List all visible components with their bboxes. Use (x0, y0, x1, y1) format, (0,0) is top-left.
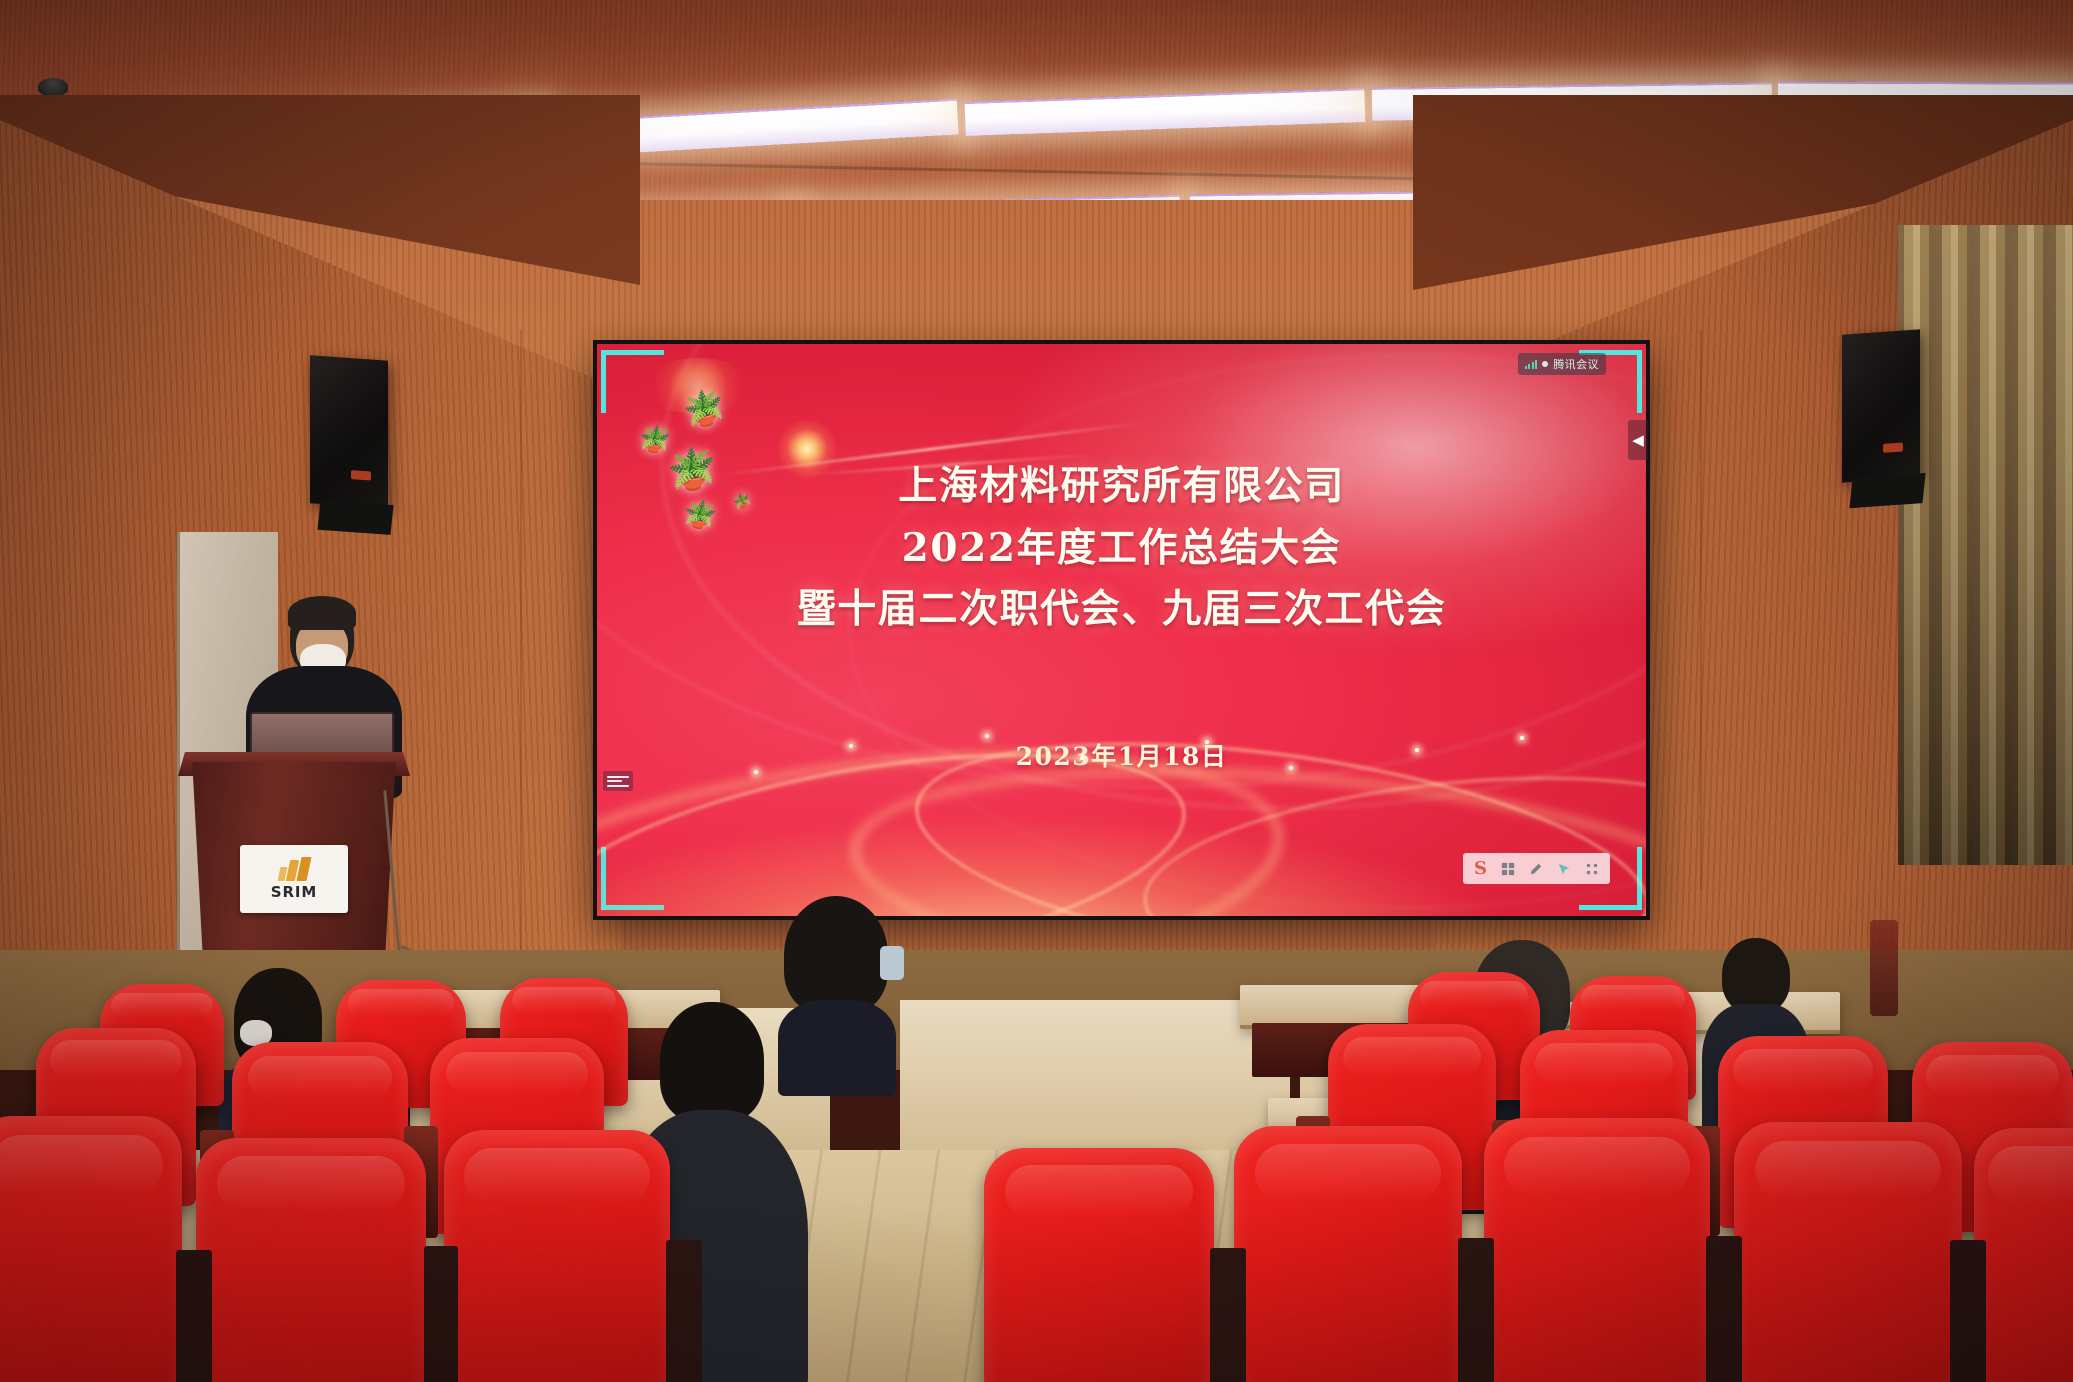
srim-logo-plate: SRIM (240, 845, 348, 913)
speaker-mount (318, 500, 394, 535)
dove-icon: 🪴 (680, 389, 728, 430)
status-dot-icon (1542, 361, 1548, 367)
speaker-mount (1850, 473, 1926, 508)
wall-panel-seam (520, 330, 522, 950)
speaker-badge (1883, 443, 1903, 453)
seat-armrest (1870, 920, 1898, 1016)
auditorium-seat[interactable] (1234, 1126, 1462, 1382)
person-hair (660, 1002, 764, 1122)
auditorium-seat[interactable] (1974, 1128, 2073, 1382)
ceiling-camera-icon (38, 78, 68, 96)
slide-toolbar[interactable]: S (1463, 853, 1610, 884)
seat-frame (1950, 1240, 1986, 1382)
tencent-meeting-watermark: 腾讯会议 (1518, 353, 1606, 375)
presenter-hair (288, 596, 356, 630)
auditorium-photo: 🪴 🪴 🪴 🪴 🪴 腾讯会议 上海材料研究所有限公司 2022年度工作总结大会 (0, 0, 2073, 1382)
chevron-left-icon[interactable]: ◀ (1628, 420, 1648, 460)
pointer-icon[interactable] (1557, 862, 1571, 876)
signal-bars-icon (1525, 360, 1538, 369)
watermark-label: 腾讯会议 (1553, 356, 1599, 372)
s-logo-icon: S (1474, 858, 1487, 879)
window-curtain (1898, 225, 2073, 865)
srim-logo-text: SRIM (271, 883, 317, 901)
seat-frame (1706, 1236, 1742, 1382)
led-screen-frame: 🪴 🪴 🪴 🪴 🪴 腾讯会议 上海材料研究所有限公司 2022年度工作总结大会 (593, 340, 1650, 920)
slide-line-1: 上海材料研究所有限公司 (597, 456, 1646, 518)
person-hair (784, 896, 888, 1014)
curtain-shading (1898, 225, 2073, 865)
slide-title-block: 上海材料研究所有限公司 2022年度工作总结大会 暨十届二次职代会、九届三次工代… (597, 456, 1646, 641)
speaker-badge (351, 470, 371, 480)
slide-line-2: 2022年度工作总结大会 (597, 518, 1646, 580)
wall-speaker-right (1842, 329, 1920, 482)
slide-line-3: 暨十届二次职代会、九届三次工代会 (597, 579, 1646, 641)
auditorium-seat[interactable] (1734, 1122, 1962, 1382)
grid-icon[interactable] (1501, 862, 1515, 876)
wall-panel-seam (1700, 330, 1702, 890)
auditorium-seat[interactable] (444, 1130, 670, 1382)
person-hair (1722, 938, 1790, 1014)
seat-frame (1458, 1238, 1494, 1382)
srim-chevron-mark-icon (279, 857, 309, 881)
seat-frame (176, 1250, 212, 1382)
wall-speaker-left (310, 355, 388, 508)
corner-bracket-top-left (601, 350, 664, 413)
auditorium-seat[interactable] (1484, 1118, 1710, 1382)
auditorium-seat[interactable] (0, 1116, 182, 1382)
apps-icon[interactable] (1585, 862, 1599, 876)
presentation-screen[interactable]: 🪴 🪴 🪴 🪴 🪴 腾讯会议 上海材料研究所有限公司 2022年度工作总结大会 (597, 344, 1646, 916)
water-bottle (880, 946, 904, 980)
seat-frame (424, 1246, 458, 1382)
slide-ribbon-decoration (597, 726, 1646, 916)
auditorium-seat[interactable] (984, 1148, 1214, 1382)
seat-frame (1210, 1248, 1246, 1382)
auditorium-seat[interactable] (196, 1138, 426, 1382)
pen-icon[interactable] (1529, 862, 1543, 876)
seat-frame (666, 1240, 702, 1382)
